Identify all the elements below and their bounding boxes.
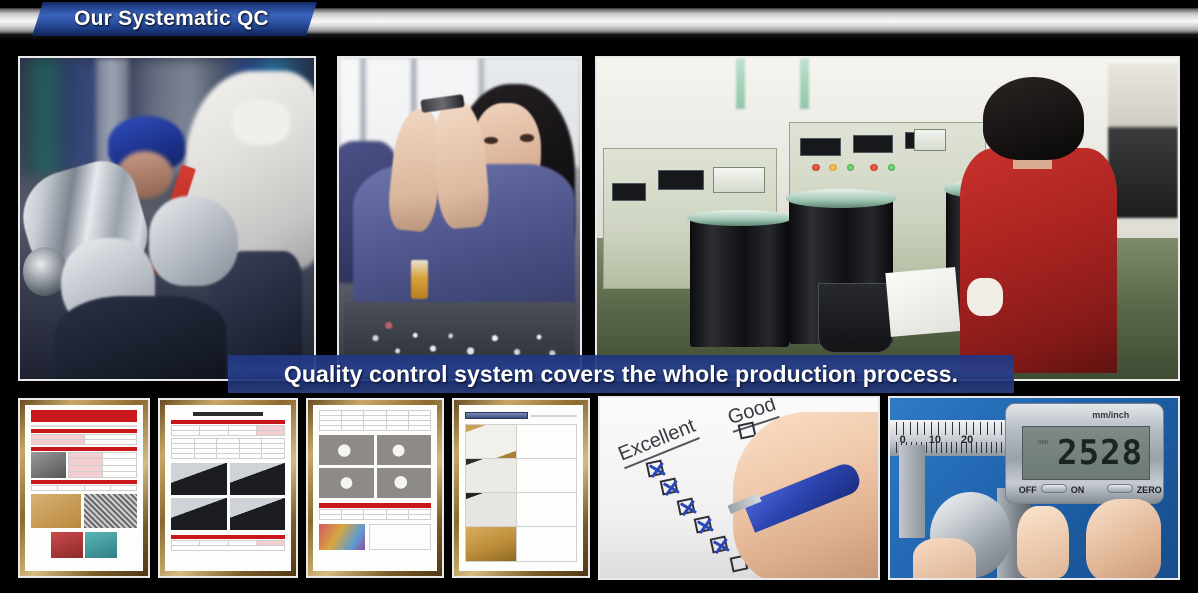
photo3-operator-red-shirt <box>960 148 1116 372</box>
doc1-photo-row-2 <box>51 532 117 558</box>
doc2-scale-photo-1 <box>171 463 227 495</box>
caliper-lcd-reading: 2528 <box>1057 436 1143 470</box>
doc3-sheet <box>313 405 437 571</box>
photo3-glass-carafe <box>818 283 894 354</box>
doc1-section-header-3 <box>31 480 137 484</box>
checkbox-excellent-4[interactable] <box>693 515 712 533</box>
photo-qc-report-document-3[interactable] <box>306 398 444 578</box>
photo3-record-sheet <box>885 267 960 337</box>
doc1-table-3 <box>31 485 137 491</box>
photo3-analog-gauge-2 <box>914 129 946 151</box>
doc4-desc-3 <box>517 493 576 527</box>
photo3-digital-meter-2 <box>658 170 704 189</box>
caliper-body: mm/inch mm 2528 OFF ON ZERO <box>1005 403 1163 504</box>
doc3-remarks-cell <box>369 524 431 550</box>
doc3-gauge-photo-3 <box>319 468 374 498</box>
doc1-frame <box>20 400 148 576</box>
photo1-face-mask <box>232 100 291 145</box>
doc1-subtitle-line <box>31 425 137 427</box>
doc2-scale-photo-2 <box>230 463 286 495</box>
caliper-scale-mark-10: 10 <box>929 434 941 446</box>
table-row <box>32 440 137 445</box>
caliper-unit-toggle-label: mm/inch <box>1092 410 1129 420</box>
doc1-table-1 <box>31 434 137 445</box>
photo-qc-report-document-4[interactable] <box>452 398 590 578</box>
caliper-zero-label: ZERO <box>1137 485 1162 495</box>
photo3-indicator-led-green-2 <box>888 164 896 171</box>
doc1-photo-row <box>31 494 137 528</box>
table-row <box>69 471 137 477</box>
doc4-photo-2 <box>466 459 517 493</box>
doc4-photo-1 <box>466 425 517 459</box>
photo1-dark-sleeve-left <box>55 296 226 379</box>
doc1-sheet <box>25 405 143 571</box>
photo-appliance-testing-lab[interactable] <box>595 56 1180 381</box>
photo3-operator-gloved-hand <box>967 278 1003 316</box>
doc3-fabric-photo <box>319 524 365 550</box>
table-row <box>32 486 137 491</box>
photo3-test-unit-2-lid <box>786 189 897 208</box>
doc4-title-rule <box>531 415 577 417</box>
doc3-table-1 <box>319 410 431 431</box>
photo-component-inspection[interactable] <box>337 56 582 381</box>
doc1-product-thumb <box>31 452 66 478</box>
doc4-sheet <box>459 405 583 571</box>
header-title-tab: Our Systematic QC <box>32 2 317 36</box>
photo3-wall-stripe-2 <box>800 58 809 109</box>
photo3-test-unit-1 <box>690 219 789 347</box>
doc3-frame <box>308 400 442 576</box>
doc1-photo-carton <box>31 494 81 528</box>
doc3-gauge-photo-1 <box>319 435 374 465</box>
doc4-desc-2 <box>517 459 576 493</box>
photo2-solvent-bottle <box>411 260 428 299</box>
photo3-indicator-led-red-1 <box>812 164 820 171</box>
photo3-test-operator <box>957 77 1120 372</box>
table-row <box>172 431 285 436</box>
doc3-photo-grid <box>319 435 431 498</box>
doc4-desc-4 <box>517 527 576 561</box>
doc4-frame <box>454 400 588 576</box>
caliper-button-row: OFF ON ZERO <box>1019 485 1153 499</box>
doc4-desc-1 <box>517 425 576 459</box>
checkbox-excellent-2[interactable] <box>660 478 679 496</box>
photo3-indicator-led-amber <box>829 164 837 171</box>
table-row <box>172 454 285 459</box>
doc4-title-bar <box>465 412 528 419</box>
photo3-indicator-led-red-2 <box>870 164 878 171</box>
page-title: Our Systematic QC <box>74 7 269 31</box>
doc3-gauge-photo-2 <box>377 435 432 465</box>
doc2-section-header-2 <box>171 535 285 539</box>
caliper-scale-mark-20: 20 <box>961 434 973 446</box>
checkbox-excellent-1[interactable] <box>646 460 665 478</box>
table-row <box>172 546 285 551</box>
photo2-eye-right <box>520 134 534 141</box>
doc3-section-header <box>319 503 431 508</box>
doc3-table-2 <box>319 509 431 520</box>
page-header: Our Systematic QC <box>0 0 1198 40</box>
doc4-photo-3 <box>466 493 517 527</box>
doc1-red-title-block <box>31 410 137 422</box>
photo-customer-satisfaction-checklist[interactable]: Excellent Good <box>598 396 880 580</box>
doc2-frame <box>160 400 296 576</box>
photo3-test-unit-1-lid <box>687 210 792 227</box>
doc2-title-line <box>193 412 264 416</box>
caliper-lcd-unit: mm <box>1038 440 1048 446</box>
photo6-finger-center <box>1017 506 1069 578</box>
caliper-off-label: OFF <box>1019 485 1037 495</box>
doc1-section-header-1 <box>31 429 137 433</box>
photo-digital-caliper-measurement[interactable]: 0 10 20 mm/inch mm 2528 OFF ON <box>888 396 1180 580</box>
qc-gallery-page: Our Systematic QC <box>0 0 1198 593</box>
checkbox-excellent-5[interactable] <box>710 535 729 553</box>
photo3-digital-meter-3 <box>800 138 841 156</box>
doc2-table-1 <box>171 425 285 436</box>
doc4-title-row <box>465 412 577 419</box>
doc1-photo-label-teal <box>85 532 117 558</box>
caliper-power-switch[interactable] <box>1041 484 1067 493</box>
photo6-thumb-right <box>1086 499 1161 578</box>
caliper-zero-switch[interactable] <box>1107 484 1133 493</box>
caliper-on-label: ON <box>1071 485 1085 495</box>
caliper-lcd-screen: mm 2528 <box>1022 426 1150 480</box>
gallery-bottom-row: Excellent Good <box>0 392 1198 588</box>
photo6-finger-lower-left <box>913 538 976 578</box>
caption-banner: Quality control system covers the whole … <box>228 355 1014 393</box>
checkbox-excellent-3[interactable] <box>676 497 695 515</box>
doc2-table-3 <box>171 540 285 551</box>
photo-qc-report-document-2[interactable] <box>158 398 298 578</box>
doc4-photo-table <box>465 424 577 562</box>
gallery-top-row <box>0 45 1198 385</box>
photo3-wall-stripe-1 <box>736 58 745 109</box>
photo-qc-report-document-1[interactable] <box>18 398 150 578</box>
doc1-table-2 <box>68 452 137 478</box>
photo2-eye-left <box>484 137 498 144</box>
doc2-sheet <box>165 405 291 571</box>
doc1-spec-block <box>31 452 137 478</box>
photo-metal-polishing-inspection[interactable] <box>18 56 316 381</box>
doc1-photo-texture <box>84 494 137 528</box>
photo3-analog-gauge-1 <box>713 167 765 193</box>
doc2-section-header-1 <box>171 420 285 424</box>
photo3-operator-hair <box>983 77 1084 160</box>
table-row <box>320 426 431 431</box>
photo3-digital-meter-4 <box>853 135 894 153</box>
doc3-gauge-photo-4 <box>377 468 432 498</box>
doc1-photo-label-red <box>51 532 83 558</box>
table-row <box>320 515 431 520</box>
doc2-scale-photo-3 <box>171 498 227 530</box>
doc1-section-header-2 <box>31 447 137 451</box>
doc2-table-2 <box>171 438 285 459</box>
doc2-scale-photo-4 <box>230 498 286 530</box>
doc3-footer-block <box>319 524 431 550</box>
caliper-fixed-jaw <box>899 445 925 539</box>
doc4-photo-4 <box>466 527 517 561</box>
photo1-glove-right <box>149 196 237 286</box>
doc2-photo-grid <box>171 463 285 530</box>
photo3-digital-meter-1 <box>612 183 647 201</box>
caption-text: Quality control system covers the whole … <box>284 361 958 388</box>
